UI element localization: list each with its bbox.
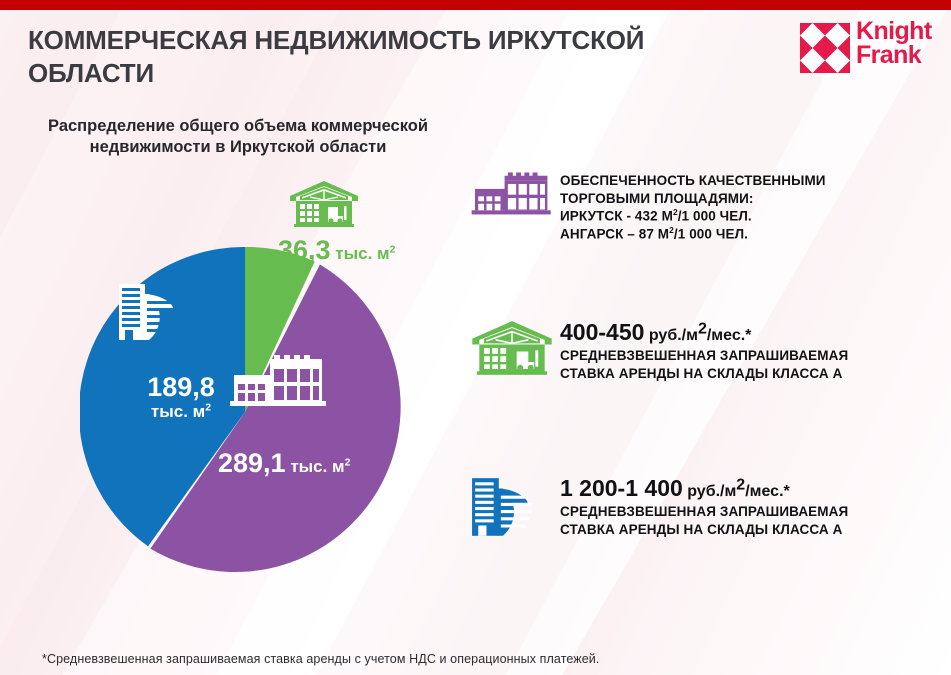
office-tower-icon [117, 282, 187, 344]
retail-line4-post: /1 000 ЧЕЛ. [674, 227, 748, 242]
office-rate-unit-post: /мес.* [745, 483, 790, 500]
warehouse-caption-line-1: СРЕДНЕВЗВЕШЕННАЯ ЗАПРАШИВАЕМАЯ [560, 347, 940, 365]
chart-title: Распределение общего объема коммерческой… [28, 116, 448, 159]
warehouse-icon [288, 180, 438, 233]
logo-line-1: Knight [856, 19, 932, 43]
knight-frank-diamond-icon [800, 23, 850, 73]
retail-caption-line-2: ТОРГОВЫМИ ПЛОЩАДЯМИ: [560, 190, 940, 208]
retail-caption-line-4: АНГАРСК – 87 М2/1 000 ЧЕЛ. [560, 225, 940, 243]
warehouse-rate-unit-pre: руб./м [644, 327, 698, 344]
office-rate-sup: 2 [736, 477, 745, 494]
info-block-office-rate: 1 200-1 400 руб./м2/мес.* СРЕДНЕВЗВЕШЕНН… [470, 476, 940, 540]
page-title: КОММЕРЧЕСКАЯ НЕДВИЖИМОСТЬ ИРКУТСКОЙ ОБЛА… [28, 24, 728, 90]
office-rate-number: 1 200-1 400 [560, 475, 683, 501]
retail-line3-post: /1 000 ЧЕЛ. [678, 209, 752, 224]
footnote: *Средневзвешенная запрашиваемая ставка а… [42, 652, 599, 666]
pie-label-retail: 289,1 тыс. м2 [218, 448, 448, 478]
knight-frank-logo: Knight Frank [800, 20, 930, 78]
retail-caption-line-1: ОБЕСПЕЧЕННОСТЬ КАЧЕСТВЕННЫМИ [560, 172, 940, 190]
pie-label-retail-sup: 2 [345, 456, 351, 468]
retail-caption-line-3: ИРКУТСК - 432 М2/1 000 ЧЕЛ. [560, 207, 940, 225]
top-accent-bar [0, 0, 951, 10]
warehouse-rate-headline: 400-450 руб./м2/мес.* [560, 320, 940, 345]
pie-label-office-value: 189,8 [116, 372, 246, 402]
office-rate-headline: 1 200-1 400 руб./м2/мес.* [560, 476, 940, 501]
logo-line-2: Frank [856, 43, 932, 67]
warehouse-rate-unit-post: /мес.* [707, 327, 752, 344]
info-block-warehouse-text: 400-450 руб./м2/мес.* СРЕДНЕВЗВЕШЕННАЯ З… [560, 320, 940, 382]
office-rate-unit-pre: руб./м [683, 483, 737, 500]
knight-frank-wordmark: Knight Frank [856, 19, 932, 68]
retail-line3-pre: ИРКУТСК - 432 М [560, 209, 673, 224]
retail-line4-pre: АНГАРСК – 87 М [560, 227, 669, 242]
warehouse-icon [470, 320, 560, 376]
pie-label-office: 189,8 тыс. м2 [116, 372, 246, 421]
pie-label-retail-unit: тыс. м [290, 457, 344, 476]
warehouse-rate-number: 400-450 [560, 319, 644, 345]
infographic-page: КОММЕРЧЕСКАЯ НЕДВИЖИМОСТЬ ИРКУТСКОЙ ОБЛА… [0, 0, 951, 675]
warehouse-caption-line-2: СТАВКА АРЕНДЫ НА СКЛАДЫ КЛАССА А [560, 365, 940, 383]
office-tower-icon [470, 476, 560, 540]
shopping-mall-icon [470, 172, 560, 219]
warehouse-rate-sup: 2 [698, 321, 707, 338]
pie-label-office-sup: 2 [205, 402, 211, 414]
pie-label-office-unit: тыс. м [151, 402, 205, 421]
pie-label-retail-value: 289,1 [218, 448, 286, 478]
info-block-office-text: 1 200-1 400 руб./м2/мес.* СРЕДНЕВЗВЕШЕНН… [560, 476, 940, 538]
info-block-retail-text: ОБЕСПЕЧЕННОСТЬ КАЧЕСТВЕННЫМИ ТОРГОВЫМИ П… [560, 172, 940, 243]
info-block-retail-provision: ОБЕСПЕЧЕННОСТЬ КАЧЕСТВЕННЫМИ ТОРГОВЫМИ П… [470, 172, 940, 243]
info-block-warehouse-rate: 400-450 руб./м2/мес.* СРЕДНЕВЗВЕШЕННАЯ З… [470, 320, 940, 382]
office-caption-line-1: СРЕДНЕВЗВЕШЕННАЯ ЗАПРАШИВАЕМАЯ [560, 503, 940, 521]
office-caption-line-2: СТАВКА АРЕНДЫ НА СКЛАДЫ КЛАССА А [560, 521, 940, 539]
